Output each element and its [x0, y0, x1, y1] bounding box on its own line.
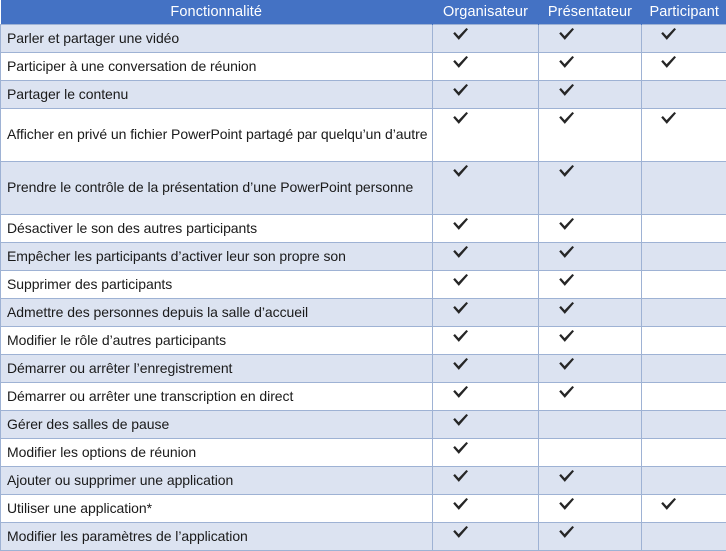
check-mark-icon — [433, 439, 538, 456]
cell-participant-capability — [642, 495, 726, 523]
column-header-feature: Fonctionnalité — [1, 0, 433, 25]
check-mark-icon — [433, 355, 538, 372]
cell-organisateur-capability — [433, 495, 539, 523]
cell-empty — [642, 215, 726, 242]
cell-organisateur-capability — [433, 439, 539, 467]
cell-presentateur-capability — [539, 271, 642, 299]
cell-empty — [539, 411, 641, 438]
cell-feature-name: Supprimer des participants — [1, 271, 433, 299]
table-row: Afficher en privé un fichier PowerPoint … — [1, 109, 726, 162]
cell-organisateur-capability — [433, 162, 539, 215]
cell-feature-name: Afficher en privé un fichier PowerPoint … — [1, 109, 433, 162]
check-mark-icon — [433, 327, 538, 344]
check-mark-icon — [642, 495, 726, 512]
check-mark-icon — [539, 271, 641, 288]
cell-feature-name: Démarrer ou arrêter une transcription en… — [1, 383, 433, 411]
check-mark-icon — [539, 299, 641, 316]
check-mark-icon — [539, 467, 641, 484]
cell-presentateur-capability — [539, 109, 642, 162]
cell-feature-name: Modifier le rôle d’autres participants — [1, 327, 433, 355]
cell-feature-name: Partager le contenu — [1, 81, 433, 109]
cell-presentateur-capability — [539, 439, 642, 467]
check-mark-icon — [539, 25, 641, 42]
cell-participant-capability — [642, 25, 726, 53]
cell-organisateur-capability — [433, 271, 539, 299]
cell-participant-capability — [642, 299, 726, 327]
cell-participant-capability — [642, 215, 726, 243]
cell-participant-capability — [642, 439, 726, 467]
cell-empty — [642, 243, 726, 270]
cell-presentateur-capability — [539, 81, 642, 109]
check-mark-icon — [539, 109, 641, 126]
check-mark-icon — [433, 81, 538, 98]
check-mark-icon — [539, 81, 641, 98]
cell-organisateur-capability — [433, 467, 539, 495]
cell-participant-capability — [642, 53, 726, 81]
table-row: Empêcher les participants d’activer leur… — [1, 243, 726, 271]
table-row: Modifier le rôle d’autres participants — [1, 327, 726, 355]
table-row: Modifier les options de réunion — [1, 439, 726, 467]
cell-organisateur-capability — [433, 523, 539, 551]
cell-empty — [642, 327, 726, 354]
table-row: Désactiver le son des autres participant… — [1, 215, 726, 243]
check-mark-icon — [539, 383, 641, 400]
cell-empty — [642, 81, 726, 108]
cell-presentateur-capability — [539, 411, 642, 439]
table-row: Démarrer ou arrêter une transcription en… — [1, 383, 726, 411]
cell-organisateur-capability — [433, 383, 539, 411]
meeting-roles-capabilities-table: Fonctionnalité Organisateur Présentateur… — [0, 0, 726, 551]
cell-presentateur-capability — [539, 355, 642, 383]
cell-presentateur-capability — [539, 243, 642, 271]
cell-presentateur-capability — [539, 327, 642, 355]
check-mark-icon — [539, 355, 641, 372]
cell-organisateur-capability — [433, 299, 539, 327]
table-row: Parler et partager une vidéo — [1, 25, 726, 53]
check-mark-icon — [642, 109, 726, 126]
table-row: Participer à une conversation de réunion — [1, 53, 726, 81]
cell-feature-name: Participer à une conversation de réunion — [1, 53, 433, 81]
table-row: Admettre des personnes depuis la salle d… — [1, 299, 726, 327]
table-row: Gérer des salles de pause — [1, 411, 726, 439]
cell-presentateur-capability — [539, 495, 642, 523]
check-mark-icon — [539, 327, 641, 344]
check-mark-icon — [433, 53, 538, 70]
check-mark-icon — [433, 25, 538, 42]
cell-feature-name: Ajouter ou supprimer une application — [1, 467, 433, 495]
check-mark-icon — [433, 162, 538, 179]
cell-empty — [539, 439, 641, 466]
cell-participant-capability — [642, 109, 726, 162]
table-row: Prendre le contrôle de la présentation d… — [1, 162, 726, 215]
table-row: Modifier les paramètres de l’application — [1, 523, 726, 551]
cell-organisateur-capability — [433, 81, 539, 109]
check-mark-icon — [433, 109, 538, 126]
table-header-row: Fonctionnalité Organisateur Présentateur… — [1, 0, 726, 25]
cell-organisateur-capability — [433, 411, 539, 439]
table-row: Utiliser une application* — [1, 495, 726, 523]
cell-presentateur-capability — [539, 523, 642, 551]
cell-empty — [642, 271, 726, 298]
table-header: Fonctionnalité Organisateur Présentateur… — [1, 0, 726, 25]
cell-presentateur-capability — [539, 467, 642, 495]
check-mark-icon — [539, 495, 641, 512]
check-mark-icon — [539, 523, 641, 540]
cell-empty — [642, 383, 726, 410]
cell-presentateur-capability — [539, 25, 642, 53]
column-header-organisateur: Organisateur — [433, 0, 539, 25]
cell-empty — [642, 523, 726, 550]
check-mark-icon — [433, 411, 538, 428]
check-mark-icon — [642, 25, 726, 42]
check-mark-icon — [433, 243, 538, 260]
cell-organisateur-capability — [433, 243, 539, 271]
cell-empty — [642, 162, 726, 214]
check-mark-icon — [539, 215, 641, 232]
cell-feature-name: Modifier les options de réunion — [1, 439, 433, 467]
cell-participant-capability — [642, 271, 726, 299]
cell-feature-name: Désactiver le son des autres participant… — [1, 215, 433, 243]
cell-organisateur-capability — [433, 355, 539, 383]
cell-participant-capability — [642, 523, 726, 551]
capabilities-table-container: Fonctionnalité Organisateur Présentateur… — [0, 0, 726, 449]
check-mark-icon — [539, 162, 641, 179]
cell-organisateur-capability — [433, 53, 539, 81]
cell-feature-name: Parler et partager une vidéo — [1, 25, 433, 53]
cell-feature-name: Modifier les paramètres de l’application — [1, 523, 433, 551]
cell-presentateur-capability — [539, 162, 642, 215]
cell-feature-name: Prendre le contrôle de la présentation d… — [1, 162, 433, 215]
cell-empty — [642, 299, 726, 326]
check-mark-icon — [433, 495, 538, 512]
cell-feature-name: Utiliser une application* — [1, 495, 433, 523]
cell-feature-name: Admettre des personnes depuis la salle d… — [1, 299, 433, 327]
cell-feature-name: Démarrer ou arrêter l’enregistrement — [1, 355, 433, 383]
cell-participant-capability — [642, 162, 726, 215]
cell-presentateur-capability — [539, 299, 642, 327]
check-mark-icon — [433, 467, 538, 484]
cell-empty — [642, 439, 726, 466]
cell-participant-capability — [642, 383, 726, 411]
cell-empty — [642, 355, 726, 382]
cell-organisateur-capability — [433, 109, 539, 162]
cell-presentateur-capability — [539, 53, 642, 81]
check-mark-icon — [539, 53, 641, 70]
cell-participant-capability — [642, 467, 726, 495]
table-row: Ajouter ou supprimer une application — [1, 467, 726, 495]
cell-presentateur-capability — [539, 215, 642, 243]
table-row: Supprimer des participants — [1, 271, 726, 299]
cell-presentateur-capability — [539, 383, 642, 411]
check-mark-icon — [433, 215, 538, 232]
cell-participant-capability — [642, 355, 726, 383]
cell-organisateur-capability — [433, 25, 539, 53]
cell-organisateur-capability — [433, 215, 539, 243]
table-body: Parler et partager une vidéoParticiper à… — [1, 25, 726, 551]
cell-feature-name: Gérer des salles de pause — [1, 411, 433, 439]
cell-participant-capability — [642, 327, 726, 355]
check-mark-icon — [642, 53, 726, 70]
column-header-participant: Participant — [642, 0, 726, 25]
cell-empty — [642, 411, 726, 438]
cell-participant-capability — [642, 243, 726, 271]
column-header-presentateur: Présentateur — [539, 0, 642, 25]
cell-participant-capability — [642, 411, 726, 439]
check-mark-icon — [539, 243, 641, 260]
check-mark-icon — [433, 271, 538, 288]
check-mark-icon — [433, 299, 538, 316]
cell-empty — [642, 467, 726, 494]
cell-participant-capability — [642, 81, 726, 109]
table-row: Démarrer ou arrêter l’enregistrement — [1, 355, 726, 383]
cell-feature-name: Empêcher les participants d’activer leur… — [1, 243, 433, 271]
table-row: Partager le contenu — [1, 81, 726, 109]
cell-organisateur-capability — [433, 327, 539, 355]
check-mark-icon — [433, 523, 538, 540]
check-mark-icon — [433, 383, 538, 400]
